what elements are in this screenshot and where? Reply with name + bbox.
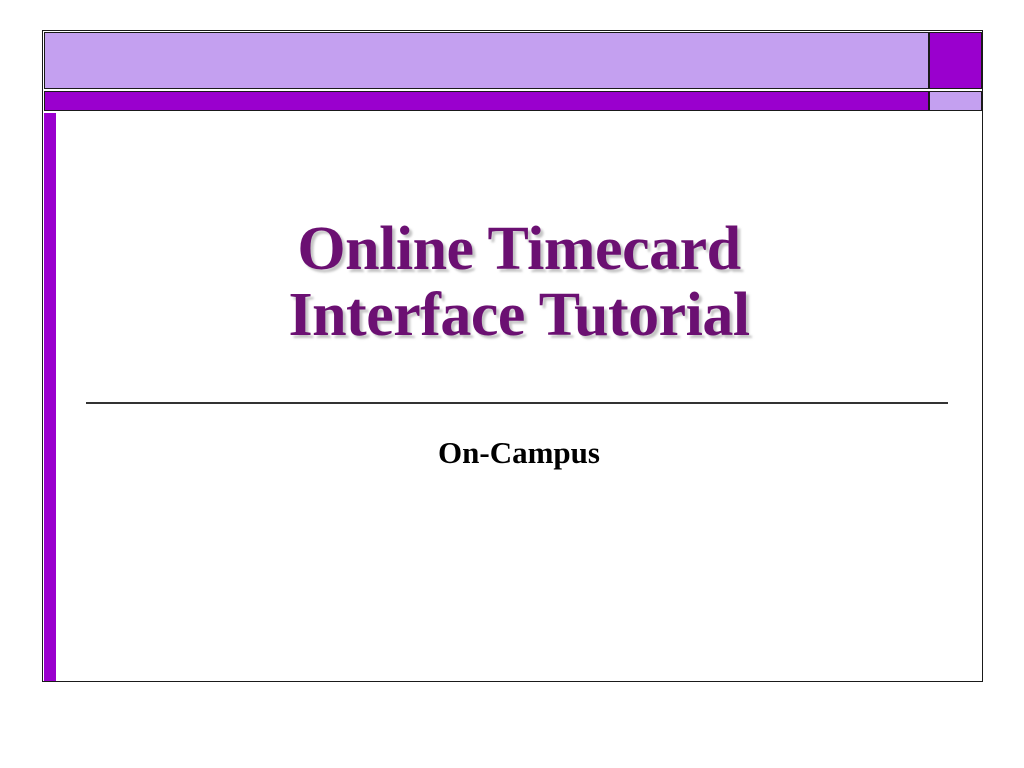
banner-light-panel xyxy=(44,32,929,89)
slide-title-line-1: Online Timecard xyxy=(56,217,982,283)
presentation-slide: Online Timecard Interface Tutorial On-Ca… xyxy=(42,30,983,682)
slide-subtitle: On-Campus xyxy=(56,435,982,471)
banner-dark-corner-block xyxy=(929,32,982,89)
banner-bottom-row xyxy=(44,91,982,111)
slide-title-line-2: Interface Tutorial xyxy=(56,283,982,349)
banner-dark-panel xyxy=(44,91,929,111)
banner-light-corner-block xyxy=(929,91,982,111)
title-divider-rule xyxy=(86,402,948,404)
slide-title: Online Timecard Interface Tutorial xyxy=(56,217,982,348)
banner-top-row xyxy=(44,32,982,89)
left-accent-bar xyxy=(44,113,56,681)
slide-content-area: Online Timecard Interface Tutorial On-Ca… xyxy=(56,113,982,681)
